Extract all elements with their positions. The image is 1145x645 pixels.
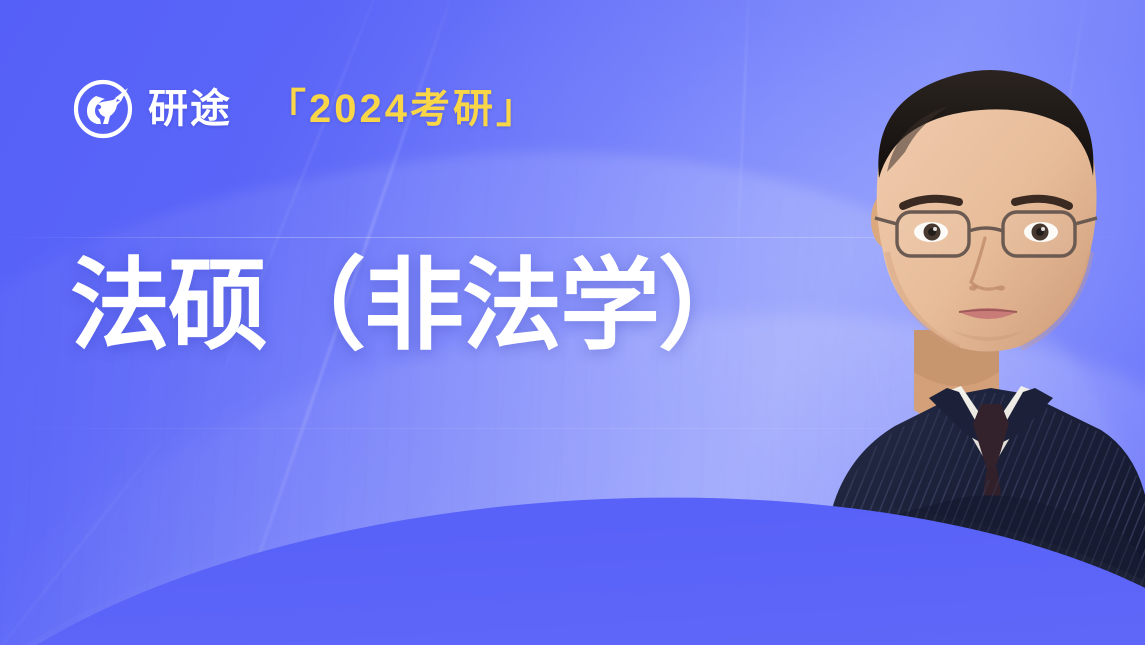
year-tag: 「2024考研」 <box>266 89 539 129</box>
course-banner: 研途 「2024考研」 法硕（非法学） <box>0 0 1145 645</box>
brand-name: 研途 <box>148 89 232 129</box>
unicorn-head-circle-icon <box>72 78 134 140</box>
page-title: 法硕（非法学） <box>70 250 756 362</box>
brand-header: 研途 「2024考研」 <box>72 78 539 140</box>
